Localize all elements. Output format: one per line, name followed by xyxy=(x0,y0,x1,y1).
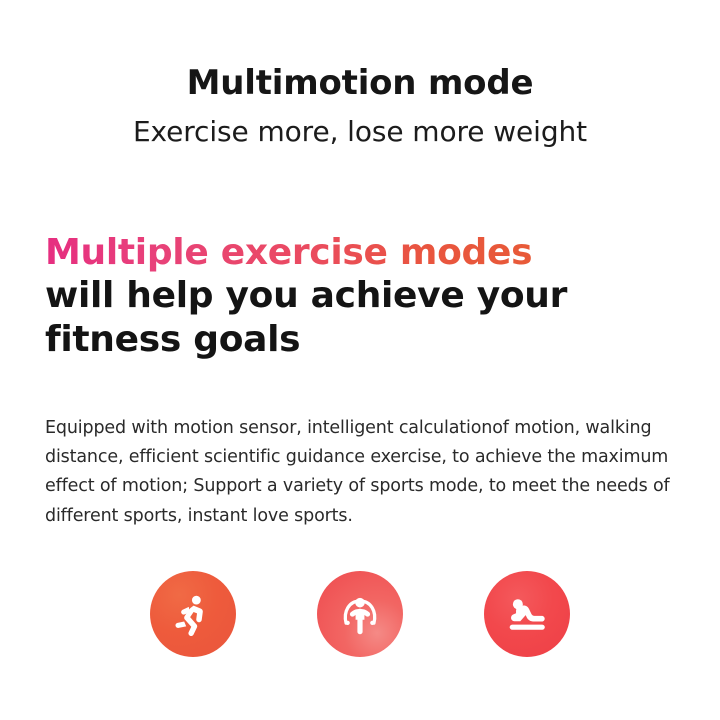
jump-rope-icon-badge[interactable] xyxy=(317,571,403,657)
header-block: Multimotion mode Exercise more, lose mor… xyxy=(0,64,720,149)
exercise-mode-icon-row xyxy=(0,571,720,671)
lead-headline-block: Multiple exercise modes will help you ac… xyxy=(45,232,685,362)
lead-black-line-2: fitness goals xyxy=(45,318,685,362)
lead-black-line-1: will help you achieve your xyxy=(45,274,685,318)
running-icon xyxy=(170,591,216,637)
page-subtitle: Exercise more, lose more weight xyxy=(0,115,720,149)
jump-rope-icon xyxy=(335,589,385,639)
lead-accent-line: Multiple exercise modes xyxy=(45,232,532,274)
page-title: Multimotion mode xyxy=(0,64,720,103)
sit-up-icon xyxy=(502,589,552,639)
sit-up-icon-badge[interactable] xyxy=(484,571,570,657)
promo-page: Multimotion mode Exercise more, lose mor… xyxy=(0,0,720,720)
body-paragraph: Equipped with motion sensor, intelligent… xyxy=(45,414,679,532)
running-icon-badge[interactable] xyxy=(150,571,236,657)
